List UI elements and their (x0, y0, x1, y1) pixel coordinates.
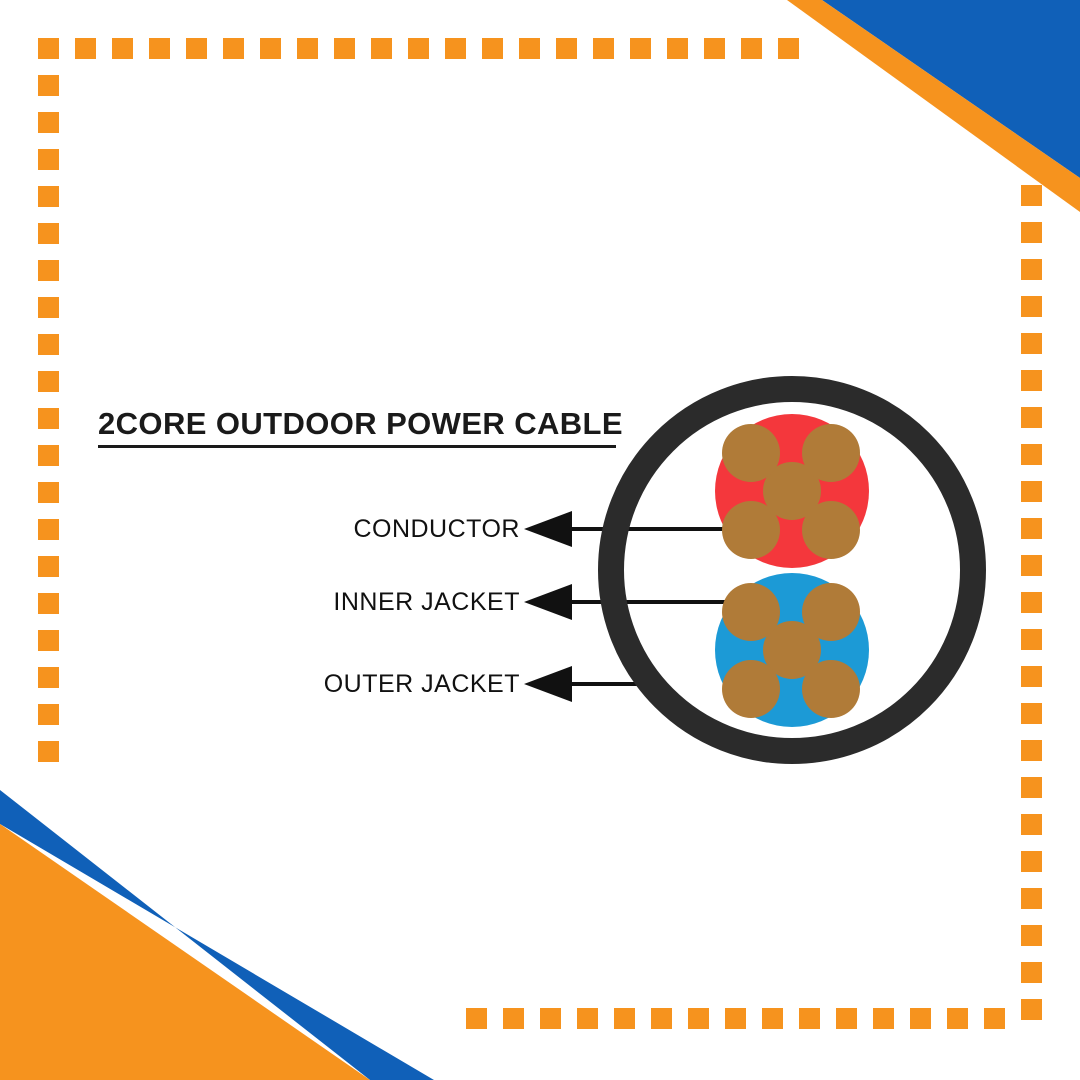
frame-dash-top (704, 38, 725, 59)
frame-dash-right (1021, 407, 1042, 428)
frame-dash-left (38, 112, 59, 133)
frame-dash-bottom (614, 1008, 635, 1029)
frame-dash-right (1021, 222, 1042, 243)
frame-dash-bottom (873, 1008, 894, 1029)
conductor-strand (722, 660, 780, 718)
frame-dash-bottom (836, 1008, 857, 1029)
cable-cross-section (590, 367, 994, 771)
frame-dash-left (38, 445, 59, 466)
frame-dash-top (408, 38, 429, 59)
frame-dash-right (1021, 629, 1042, 650)
frame-dash-left (38, 260, 59, 281)
frame-dash-right (1021, 740, 1042, 761)
frame-dash-bottom (651, 1008, 672, 1029)
frame-dash-right (1021, 555, 1042, 576)
frame-dash-bottom (762, 1008, 783, 1029)
frame-dash-top (371, 38, 392, 59)
frame-dash-left (38, 482, 59, 503)
frame-dash-top (778, 38, 799, 59)
frame-dash-right (1021, 703, 1042, 724)
frame-dash-bottom (947, 1008, 968, 1029)
core-red (715, 414, 869, 568)
frame-dash-top (75, 38, 96, 59)
frame-dash-top (38, 38, 59, 59)
frame-dash-top (260, 38, 281, 59)
frame-dash-right (1021, 370, 1042, 391)
bottom-left-blue-stripe (0, 790, 434, 1080)
frame-dash-bottom (503, 1008, 524, 1029)
frame-dash-right (1021, 777, 1042, 798)
frame-dash-left (38, 741, 59, 762)
frame-dash-top (630, 38, 651, 59)
frame-dash-bottom (984, 1008, 1005, 1029)
frame-dash-top (741, 38, 762, 59)
frame-dash-left (38, 408, 59, 429)
frame-dash-left (38, 186, 59, 207)
conductor-strand (722, 424, 780, 482)
frame-dash-top (519, 38, 540, 59)
callout-outer-jacket-label: OUTER JACKET (324, 670, 520, 699)
frame-dash-left (38, 704, 59, 725)
frame-dash-top (667, 38, 688, 59)
frame-dash-right (1021, 888, 1042, 909)
frame-dash-right (1021, 296, 1042, 317)
frame-dash-left (38, 75, 59, 96)
top-right-orange-stripe (787, 0, 1080, 212)
frame-dash-right (1021, 444, 1042, 465)
frame-dash-left (38, 149, 59, 170)
frame-dash-top (149, 38, 170, 59)
frame-dash-top (297, 38, 318, 59)
page-title: 2CORE OUTDOOR POWER CABLE (98, 408, 618, 448)
frame-dash-bottom (466, 1008, 487, 1029)
frame-dash-right (1021, 592, 1042, 613)
frame-dash-right (1021, 962, 1042, 983)
frame-dash-top (556, 38, 577, 59)
conductor-strand (722, 501, 780, 559)
page-title-underline (98, 445, 616, 448)
frame-dash-top (593, 38, 614, 59)
frame-dash-right (1021, 259, 1042, 280)
frame-dash-left (38, 667, 59, 688)
conductor-strand (802, 583, 860, 641)
frame-dash-right (1021, 518, 1042, 539)
frame-dash-left (38, 371, 59, 392)
top-right-blue-triangle (822, 0, 1080, 178)
frame-dash-top (445, 38, 466, 59)
frame-dash-right (1021, 851, 1042, 872)
frame-dash-right (1021, 333, 1042, 354)
conductor-strand (722, 583, 780, 641)
frame-dash-right (1021, 481, 1042, 502)
frame-dash-left (38, 334, 59, 355)
frame-dash-bottom (725, 1008, 746, 1029)
page-title-text: 2CORE OUTDOOR POWER CABLE (98, 408, 618, 441)
callout-inner-jacket: INNER JACKET (240, 585, 520, 619)
frame-dash-top (186, 38, 207, 59)
frame-dash-right (1021, 185, 1042, 206)
callout-outer-jacket: OUTER JACKET (240, 667, 520, 701)
frame-dash-right (1021, 999, 1042, 1020)
frame-dash-right (1021, 666, 1042, 687)
frame-dash-left (38, 297, 59, 318)
frame-dash-right (1021, 814, 1042, 835)
frame-dash-left (38, 519, 59, 540)
frame-dash-top (334, 38, 355, 59)
callout-inner-jacket-label: INNER JACKET (333, 588, 520, 617)
frame-dash-right (1021, 925, 1042, 946)
frame-dash-bottom (910, 1008, 931, 1029)
bottom-left-orange-triangle (0, 824, 370, 1080)
frame-dash-top (112, 38, 133, 59)
frame-dash-top (482, 38, 503, 59)
conductor-strand (802, 424, 860, 482)
frame-dash-left (38, 223, 59, 244)
conductor-strand (802, 660, 860, 718)
frame-dash-left (38, 593, 59, 614)
frame-dash-bottom (688, 1008, 709, 1029)
frame-dash-bottom (799, 1008, 820, 1029)
poster-canvas: 2CORE OUTDOOR POWER CABLE CONDUCTOR INNE… (0, 0, 1080, 1080)
frame-dash-top (223, 38, 244, 59)
frame-dash-left (38, 630, 59, 651)
frame-dash-left (38, 556, 59, 577)
callout-conductor-label: CONDUCTOR (353, 515, 520, 544)
frame-dash-bottom (577, 1008, 598, 1029)
frame-dash-bottom (540, 1008, 561, 1029)
conductor-strand (802, 501, 860, 559)
core-blue (715, 573, 869, 727)
callout-conductor: CONDUCTOR (240, 512, 520, 546)
